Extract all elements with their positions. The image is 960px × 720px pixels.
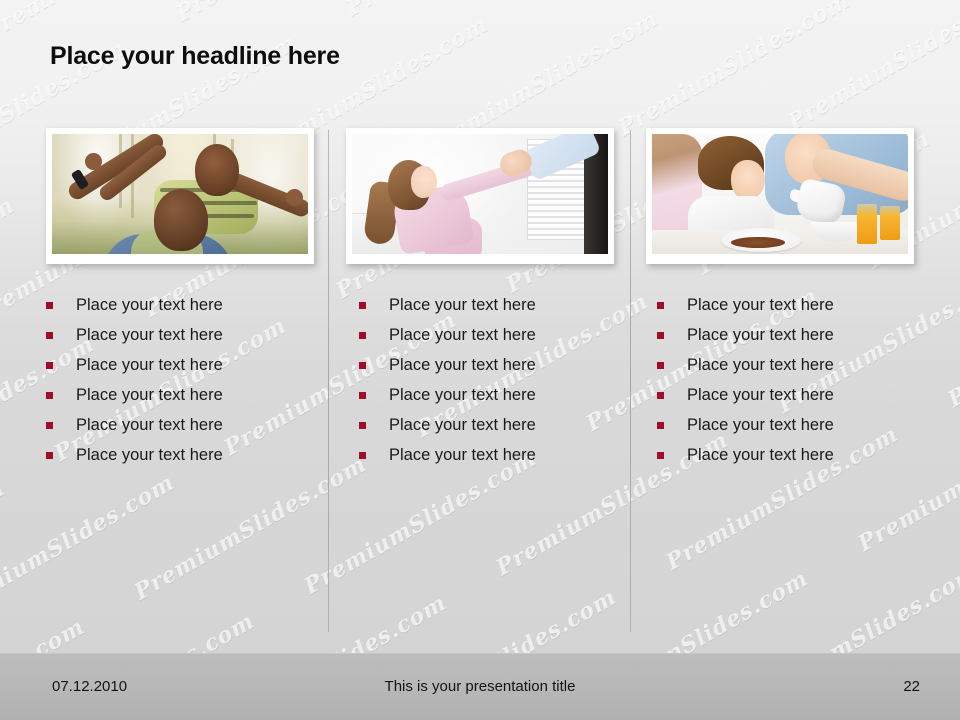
list-item[interactable]: Place your text here [346, 353, 616, 383]
list-item[interactable]: Place your text here [346, 323, 616, 353]
list-item-label: Place your text here [687, 353, 834, 378]
list-item-label: Place your text here [389, 443, 536, 468]
watermark-text: PremiumSlides.com [0, 475, 9, 629]
list-item[interactable]: Place your text here [346, 413, 616, 443]
list-item[interactable]: Place your text here [646, 443, 916, 473]
watermark-text: PremiumSlides.com [784, 0, 960, 136]
list-item[interactable]: Place your text here [46, 323, 316, 353]
content-column-2: Place your text here Place your text her… [346, 128, 616, 473]
bullet-square-icon [46, 452, 53, 459]
watermark-text: PremiumSlides.com [0, 0, 51, 51]
photo-frame-2[interactable] [346, 128, 614, 264]
column-divider-left [328, 130, 329, 632]
list-item-label: Place your text here [687, 443, 834, 468]
column-divider-right [630, 130, 631, 632]
bullet-list-1: Place your text here Place your text her… [46, 293, 316, 473]
list-item-label: Place your text here [389, 413, 536, 438]
photo-family-breakfast-father-pouring-milk [652, 134, 908, 254]
list-item-label: Place your text here [389, 353, 536, 378]
bullet-square-icon [46, 362, 53, 369]
watermark-text: PremiumSlides.com [342, 0, 583, 21]
slide-footer: 07.12.2010 This is your presentation tit… [0, 653, 960, 720]
bullet-square-icon [46, 302, 53, 309]
list-item-label: Place your text here [687, 293, 834, 318]
bullet-list-2: Place your text here Place your text her… [346, 293, 616, 473]
list-item[interactable]: Place your text here [346, 383, 616, 413]
watermark-text: PremiumSlides.com [614, 0, 855, 141]
bullet-square-icon [657, 452, 664, 459]
list-item-label: Place your text here [76, 443, 223, 468]
list-item-label: Place your text here [687, 323, 834, 348]
list-item-label: Place your text here [389, 293, 536, 318]
list-item-label: Place your text here [76, 353, 223, 378]
list-item[interactable]: Place your text here [46, 383, 316, 413]
photo-father-carrying-son-on-shoulders-outdoors [52, 134, 308, 254]
content-column-3: Place your text here Place your text her… [646, 128, 916, 473]
photo-frame-3[interactable] [646, 128, 914, 264]
bullet-square-icon [359, 332, 366, 339]
bullet-list-3: Place your text here Place your text her… [646, 293, 916, 473]
list-item[interactable]: Place your text here [646, 413, 916, 443]
list-item[interactable]: Place your text here [646, 353, 916, 383]
list-item[interactable]: Place your text here [646, 323, 916, 353]
list-item-label: Place your text here [389, 323, 536, 348]
footer-page-number: 22 [0, 678, 960, 695]
photo-frame-1[interactable] [46, 128, 314, 264]
list-item-label: Place your text here [687, 413, 834, 438]
watermark-text: PremiumSlides.com [0, 470, 179, 624]
list-item-label: Place your text here [76, 323, 223, 348]
list-item[interactable]: Place your text here [46, 443, 316, 473]
bullet-square-icon [657, 302, 664, 309]
list-item-label: Place your text here [389, 383, 536, 408]
list-item[interactable]: Place your text here [646, 293, 916, 323]
content-column-1: Place your text here Place your text her… [46, 128, 316, 473]
list-item[interactable]: Place your text here [346, 443, 616, 473]
bullet-square-icon [359, 362, 366, 369]
bullet-square-icon [46, 422, 53, 429]
presentation-slide: PremiumSlides.comPremiumSlides.comPremiu… [0, 0, 960, 720]
watermark-text: PremiumSlides.com [0, 192, 19, 346]
bullet-square-icon [359, 422, 366, 429]
bullet-square-icon [46, 332, 53, 339]
list-item[interactable]: Place your text here [646, 383, 916, 413]
list-item[interactable]: Place your text here [346, 293, 616, 323]
list-item-label: Place your text here [76, 413, 223, 438]
watermark-text: PremiumSlides.com [130, 451, 371, 605]
watermark-text: PremiumSlides.com [944, 259, 960, 413]
bullet-square-icon [359, 392, 366, 399]
bullet-square-icon [657, 392, 664, 399]
list-item[interactable]: Place your text here [46, 413, 316, 443]
bullet-square-icon [657, 332, 664, 339]
list-item-label: Place your text here [76, 383, 223, 408]
page-title: Place your headline here [50, 42, 340, 71]
list-item[interactable]: Place your text here [46, 353, 316, 383]
list-item-label: Place your text here [76, 293, 223, 318]
watermark-text: PremiumSlides.com [172, 0, 413, 27]
list-item[interactable]: Place your text here [46, 293, 316, 323]
bullet-square-icon [657, 362, 664, 369]
bullet-square-icon [359, 302, 366, 309]
watermark-text: PremiumSlides.com [0, 0, 221, 45]
bullet-square-icon [46, 392, 53, 399]
photo-girl-in-pink-holding-adult-hand-indoors [352, 134, 608, 254]
bullet-square-icon [359, 452, 366, 459]
bullet-square-icon [657, 422, 664, 429]
watermark-text: PremiumSlides.com [534, 0, 775, 3]
list-item-label: Place your text here [687, 383, 834, 408]
